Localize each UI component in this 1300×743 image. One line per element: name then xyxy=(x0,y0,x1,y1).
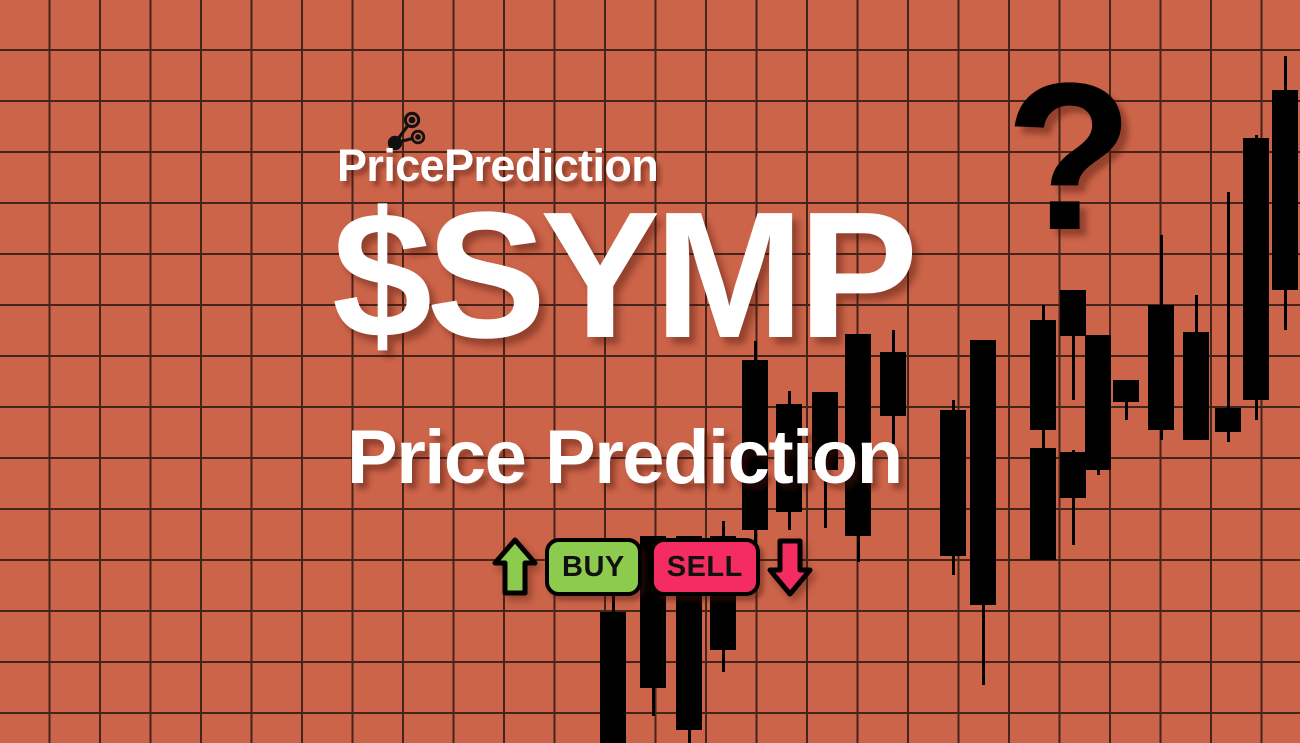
buy-badge[interactable]: BUY xyxy=(545,538,642,596)
arrow-down-icon xyxy=(767,537,813,597)
candle-body xyxy=(1113,380,1139,402)
sell-badge-label: SELL xyxy=(667,553,743,582)
question-mark-icon: ? xyxy=(1005,52,1133,262)
candle-body xyxy=(742,360,768,530)
candle-body xyxy=(1215,408,1241,432)
candle-body xyxy=(812,392,838,470)
candle-body xyxy=(1085,335,1111,470)
candle-body xyxy=(1060,452,1086,498)
candle-body xyxy=(1272,90,1298,290)
candle-body xyxy=(1060,290,1086,336)
candle-body xyxy=(880,352,906,416)
buy-badge-label: BUY xyxy=(562,553,625,582)
candle-body xyxy=(845,334,871,536)
candle-body xyxy=(940,410,966,556)
candle-body xyxy=(1148,305,1174,430)
candle-body xyxy=(970,488,996,605)
sell-badge[interactable]: SELL xyxy=(650,538,760,596)
candle-body xyxy=(970,340,996,488)
candle-body xyxy=(600,612,626,743)
price-prediction-banner: ? PricePrediction $SYMP Price Prediction xyxy=(0,0,1300,743)
candle-body xyxy=(1183,332,1209,440)
candle-body xyxy=(776,404,802,512)
signal-row: BUY SELL xyxy=(492,536,813,598)
candle-body xyxy=(1030,448,1056,560)
candle-wick xyxy=(1227,192,1230,442)
candle-body xyxy=(1030,320,1056,430)
arrow-up-icon xyxy=(492,537,538,597)
candle-body xyxy=(1243,138,1269,400)
